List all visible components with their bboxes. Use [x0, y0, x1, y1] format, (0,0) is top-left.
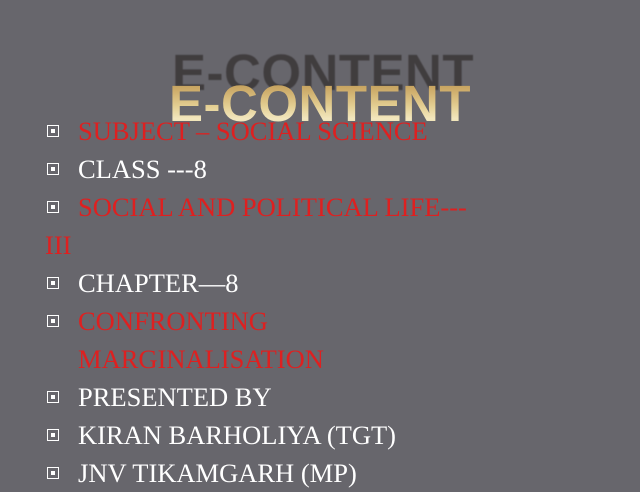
bullet-item: CHAPTER—8 — [0, 264, 640, 302]
square-bullet-icon — [47, 429, 59, 441]
slide-title-shadow-text: E-CONTENT — [172, 47, 474, 98]
bullet-text: SOCIAL AND POLITICAL LIFE--- — [78, 192, 467, 222]
square-bullet-icon — [47, 201, 59, 213]
square-bullet-icon — [47, 277, 59, 289]
bullet-text: CHAPTER—8 — [78, 268, 239, 298]
square-bullet-icon — [47, 125, 59, 137]
square-bullet-icon — [47, 467, 59, 479]
bullet-text: KIRAN BARHOLIYA (TGT) — [78, 420, 396, 450]
bullet-text: SUBJECT – SOCIAL SCIENCE — [78, 116, 428, 146]
bullet-text: PRESENTED BY — [78, 382, 272, 412]
bullet-continuation-line: MARGINALISATION — [78, 340, 640, 378]
bullet-item: KIRAN BARHOLIYA (TGT) — [0, 416, 640, 454]
bullet-continuation-line: III — [45, 226, 640, 264]
bullet-item: CLASS ---8 — [0, 150, 640, 188]
bullet-text: CLASS ---8 — [78, 154, 207, 184]
bullet-item: SOCIAL AND POLITICAL LIFE---III — [0, 188, 640, 264]
square-bullet-icon — [47, 391, 59, 403]
bullet-item: CONFRONTINGMARGINALISATION — [0, 302, 640, 378]
slide-title-shadow: E-CONTENT — [0, 47, 640, 98]
bullet-item: PRESENTED BY — [0, 378, 640, 416]
bullet-text: CONFRONTING — [78, 306, 268, 336]
square-bullet-icon — [47, 163, 59, 175]
slide-bullet-list: SUBJECT – SOCIAL SCIENCECLASS ---8SOCIAL… — [0, 112, 640, 492]
bullet-item: JNV TIKAMGARH (MP) — [0, 454, 640, 492]
square-bullet-icon — [47, 315, 59, 327]
presentation-slide: E-CONTENT E-CONTENT SUBJECT – SOCIAL SCI… — [0, 0, 640, 480]
bullet-item: SUBJECT – SOCIAL SCIENCE — [0, 112, 640, 150]
bullet-text: JNV TIKAMGARH (MP) — [78, 458, 357, 488]
